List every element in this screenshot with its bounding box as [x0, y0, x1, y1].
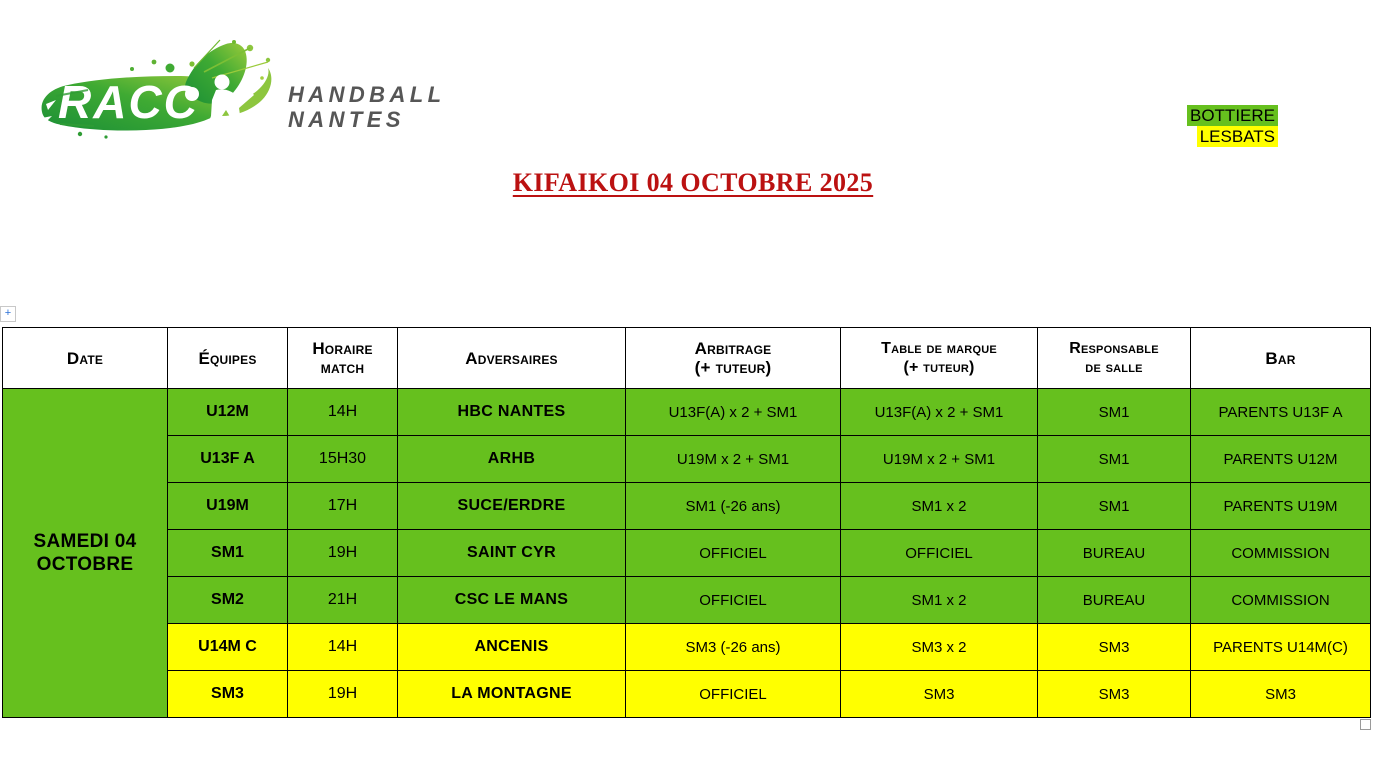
scoretable-cell: U13F(A) x 2 + SM1	[841, 389, 1038, 436]
hall-manager-cell: SM1	[1038, 436, 1191, 483]
resize-handle[interactable]	[1360, 719, 1371, 730]
table-row: U14M C 14H ANCENIS SM3 (-26 ans) SM3 x 2…	[3, 624, 1371, 671]
bar-cell: PARENTS U12M	[1191, 436, 1371, 483]
anchor-plus-icon[interactable]: +	[0, 306, 16, 322]
team-cell: U12M	[168, 389, 288, 436]
bar-cell: SM3	[1191, 671, 1371, 718]
scoretable-cell: SM1 x 2	[841, 483, 1038, 530]
team-cell: SM3	[168, 671, 288, 718]
bar-cell: PARENTS U14M(C)	[1191, 624, 1371, 671]
time-cell: 14H	[288, 624, 398, 671]
bar-cell: COMMISSION	[1191, 577, 1371, 624]
logo-wordmark: HANDBALL NANTES	[288, 82, 445, 132]
time-cell: 21H	[288, 577, 398, 624]
table-header-row: Date Équipes Horaire match Adversaires A…	[3, 328, 1371, 389]
referee-cell: U13F(A) x 2 + SM1	[626, 389, 841, 436]
scoretable-cell: OFFICIEL	[841, 530, 1038, 577]
table-row: SAMEDI 04 OCTOBRE U12M 14H HBC NANTES U1…	[3, 389, 1371, 436]
column-header-equipes: Équipes	[168, 328, 288, 389]
bar-cell: COMMISSION	[1191, 530, 1371, 577]
column-header-table-marque: Table de marque (+ tuteur)	[841, 328, 1038, 389]
time-cell: 15H30	[288, 436, 398, 483]
venue-legend-row: BOTTIERE	[1187, 105, 1278, 126]
referee-cell: OFFICIEL	[626, 530, 841, 577]
column-header-adversaires: Adversaires	[398, 328, 626, 389]
team-cell: U14M C	[168, 624, 288, 671]
table-row: SM3 19H LA MONTAGNE OFFICIEL SM3 SM3 SM3	[3, 671, 1371, 718]
bar-cell: PARENTS U13F A	[1191, 389, 1371, 436]
opponent-cell: CSC LE MANS	[398, 577, 626, 624]
scoretable-cell: SM3 x 2	[841, 624, 1038, 671]
time-cell: 17H	[288, 483, 398, 530]
team-cell: U19M	[168, 483, 288, 530]
column-header-arbitrage: Arbitrage (+ tuteur)	[626, 328, 841, 389]
racc-logo-icon: RACC	[36, 38, 286, 150]
venue-badge-lesbats: LESBATS	[1197, 126, 1278, 147]
hall-manager-cell: SM1	[1038, 483, 1191, 530]
hall-manager-cell: SM3	[1038, 624, 1191, 671]
schedule-table: Date Équipes Horaire match Adversaires A…	[2, 327, 1371, 718]
referee-cell: OFFICIEL	[626, 577, 841, 624]
team-cell: SM1	[168, 530, 288, 577]
svg-text:RACC: RACC	[58, 76, 199, 128]
table-row: U13F A 15H30 ARHB U19M x 2 + SM1 U19M x …	[3, 436, 1371, 483]
date-cell: SAMEDI 04 OCTOBRE	[3, 389, 168, 718]
referee-cell: SM1 (-26 ans)	[626, 483, 841, 530]
opponent-cell: ANCENIS	[398, 624, 626, 671]
opponent-cell: SUCE/ERDRE	[398, 483, 626, 530]
page-title: KIFAIKOI 04 OCTOBRE 2025	[0, 168, 1386, 198]
page-title-text: KIFAIKOI 04 OCTOBRE 2025	[513, 168, 873, 197]
opponent-cell: SAINT CYR	[398, 530, 626, 577]
column-header-date: Date	[3, 328, 168, 389]
club-logo: RACC HANDBALL NANTES	[36, 38, 446, 150]
referee-cell: OFFICIEL	[626, 671, 841, 718]
hall-manager-cell: SM3	[1038, 671, 1191, 718]
column-header-horaire: Horaire match	[288, 328, 398, 389]
time-cell: 19H	[288, 530, 398, 577]
referee-cell: SM3 (-26 ans)	[626, 624, 841, 671]
table-row: SM1 19H SAINT CYR OFFICIEL OFFICIEL BURE…	[3, 530, 1371, 577]
scoretable-cell: SM1 x 2	[841, 577, 1038, 624]
opponent-cell: LA MONTAGNE	[398, 671, 626, 718]
team-cell: SM2	[168, 577, 288, 624]
opponent-cell: ARHB	[398, 436, 626, 483]
hall-manager-cell: BUREAU	[1038, 530, 1191, 577]
referee-cell: U19M x 2 + SM1	[626, 436, 841, 483]
scoretable-cell: SM3	[841, 671, 1038, 718]
scoretable-cell: U19M x 2 + SM1	[841, 436, 1038, 483]
bar-cell: PARENTS U19M	[1191, 483, 1371, 530]
venue-legend: BOTTIERE LESBATS	[1187, 105, 1278, 147]
hall-manager-cell: BUREAU	[1038, 577, 1191, 624]
venue-badge-bottiere: BOTTIERE	[1187, 105, 1278, 126]
table-row: SM2 21H CSC LE MANS OFFICIEL SM1 x 2 BUR…	[3, 577, 1371, 624]
table-row: U19M 17H SUCE/ERDRE SM1 (-26 ans) SM1 x …	[3, 483, 1371, 530]
time-cell: 14H	[288, 389, 398, 436]
column-header-responsable: Responsable de salle	[1038, 328, 1191, 389]
venue-legend-row: LESBATS	[1187, 126, 1278, 147]
hall-manager-cell: SM1	[1038, 389, 1191, 436]
opponent-cell: HBC NANTES	[398, 389, 626, 436]
time-cell: 19H	[288, 671, 398, 718]
column-header-bar: Bar	[1191, 328, 1371, 389]
team-cell: U13F A	[168, 436, 288, 483]
